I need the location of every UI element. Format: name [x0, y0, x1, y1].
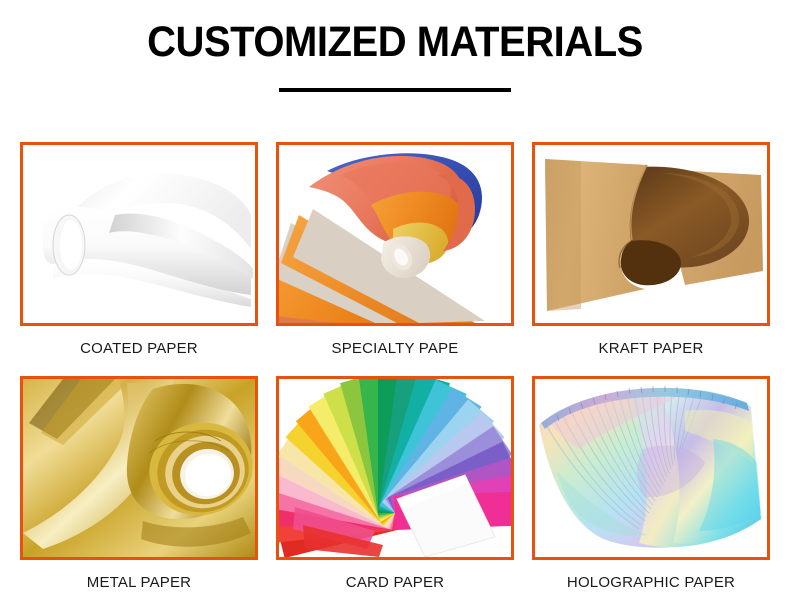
material-label-coated-paper: COATED PAPER	[20, 326, 258, 358]
material-card-specialty-paper[interactable]: SPECIALTY PAPE	[276, 142, 514, 358]
material-card-kraft-paper[interactable]: KRAFT PAPER	[532, 142, 770, 358]
holographic-paper-fan-icon	[535, 379, 767, 557]
page-title: CUSTOMIZED MATERIALS	[28, 18, 763, 66]
material-thumbnail-card-paper[interactable]	[276, 376, 514, 560]
metal-paper-gold-roll-icon	[23, 379, 255, 557]
title-divider	[279, 88, 511, 92]
kraft-paper-sheet-icon	[535, 145, 767, 323]
material-label-kraft-paper: KRAFT PAPER	[532, 326, 770, 358]
material-card-holographic-paper[interactable]: HOLOGRAPHIC PAPER	[532, 376, 770, 592]
material-thumbnail-specialty-paper[interactable]	[276, 142, 514, 326]
coated-paper-roll-icon	[23, 145, 255, 323]
page-header: CUSTOMIZED MATERIALS	[0, 0, 790, 92]
material-card-metal-paper[interactable]: METAL PAPER	[20, 376, 258, 592]
material-thumbnail-metal-paper[interactable]	[20, 376, 258, 560]
card-paper-rainbow-fan-icon	[279, 379, 511, 557]
material-label-holographic-paper: HOLOGRAPHIC PAPER	[532, 560, 770, 592]
material-thumbnail-coated-paper[interactable]	[20, 142, 258, 326]
material-label-card-paper: CARD PAPER	[276, 560, 514, 592]
specialty-paper-sheets-icon	[279, 145, 511, 323]
material-card-card-paper[interactable]: CARD PAPER	[276, 376, 514, 592]
material-thumbnail-holographic-paper[interactable]	[532, 376, 770, 560]
material-card-coated-paper[interactable]: COATED PAPER	[20, 142, 258, 358]
material-label-specialty-paper: SPECIALTY PAPE	[276, 326, 514, 358]
material-label-metal-paper: METAL PAPER	[20, 560, 258, 592]
material-thumbnail-kraft-paper[interactable]	[532, 142, 770, 326]
materials-grid: COATED PAPER	[20, 142, 770, 592]
